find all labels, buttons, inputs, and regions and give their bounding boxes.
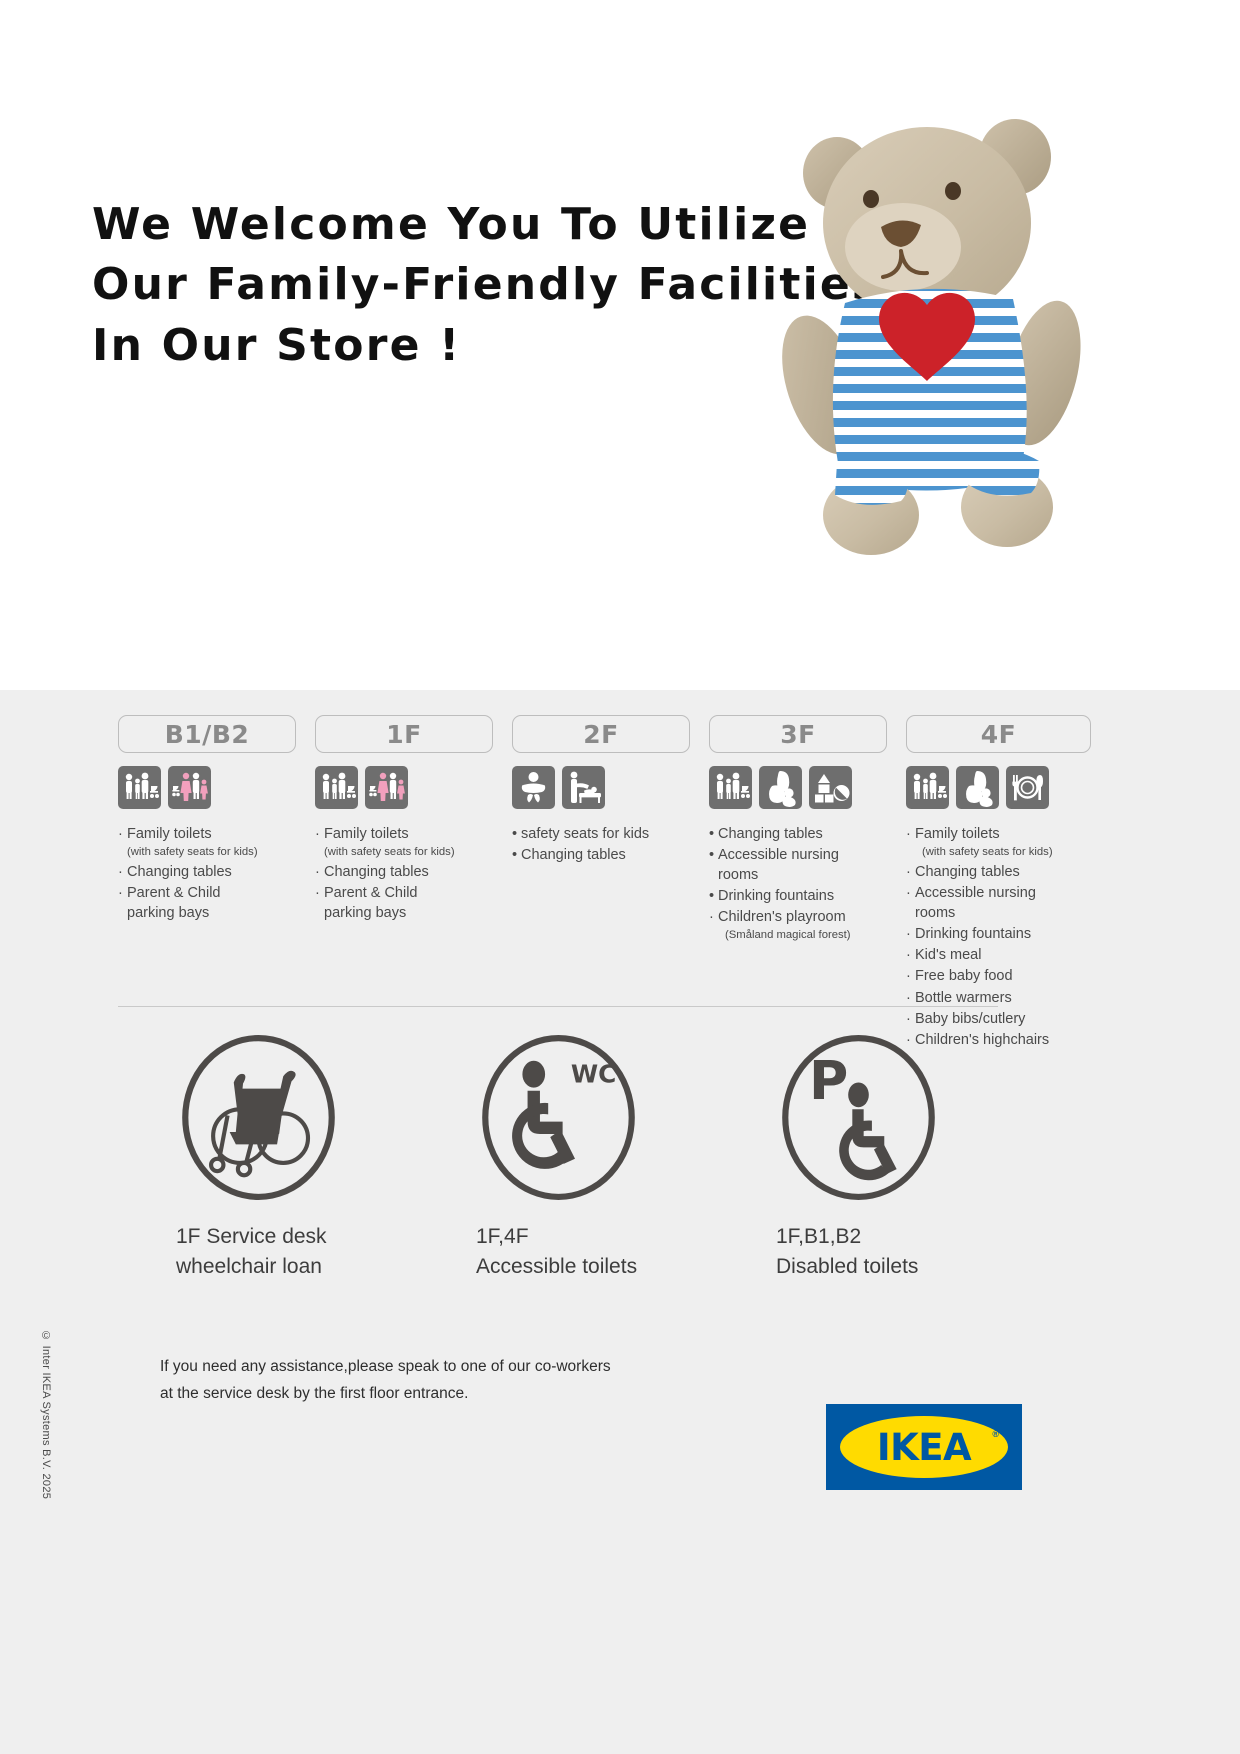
bullet: · [118,825,127,844]
bullet: · [118,863,127,882]
playroom-blocks-icon [809,766,852,809]
bullet: · [906,967,915,986]
list-item: •Changing tables [709,825,887,844]
ikea-logo-oval: IKEA ® [840,1416,1008,1478]
feature-text: Parent & Child parking bays [127,884,296,923]
list-item: •safety seats for kids [512,825,690,844]
feature-subtext: (with safety seats for kids) [127,845,296,860]
floor-column-2f: 2F [512,715,690,868]
feature-subtext: (with safety seats for kids) [922,845,1091,860]
accessibility-item-wheelchair-loan: 1F Service desk wheelchair loan [118,1035,418,1282]
list-item: ·Changing tables [118,863,296,882]
accessible-toilet-wc-icon: WC [476,1035,641,1200]
feature-text: Drinking fountains [915,925,1091,944]
feature-text: Changing tables [324,863,493,882]
bullet: • [709,887,718,906]
bullet: · [315,884,324,923]
list-item: ·Kid's meal [906,946,1091,965]
floor-badge-4f[interactable]: 4F [906,715,1091,753]
ikea-logo: IKEA ® [826,1404,1022,1490]
accessibility-label: 1F,4F Accessible toilets [476,1222,718,1282]
feature-text: Changing tables [127,863,296,882]
nursing-mother-icon [956,766,999,809]
bullet: · [709,908,718,927]
changing-table-icon [562,766,605,809]
bullet: · [315,863,324,882]
list-item: ·Baby bibs/cutlery [906,1010,1091,1029]
feature-text: Children's playroom [718,908,887,927]
wheelchair-loan-icon [176,1035,341,1200]
accessibility-item-accessible-toilets: WC 1F,4F Accessible toilets [418,1035,718,1282]
bullet: • [512,846,521,865]
copyright-text: © Inter IKEA Systems B.V. 2025 [40,1330,52,1499]
list-item: ·Changing tables [315,863,493,882]
bullet: · [315,825,324,844]
feature-list-b1b2: ·Family toilets (with safety seats for k… [118,825,296,923]
accessibility-label: 1F Service desk wheelchair loan [176,1222,418,1282]
teddy-bear-image [775,95,1135,595]
icon-row-1f [315,766,493,809]
feature-text: Parent & Child parking bays [324,884,493,923]
page-title: We Welcome You To Utilize Our Family-Fri… [92,195,880,376]
list-item: ·Family toilets [906,825,1091,844]
list-item: •Changing tables [512,846,690,865]
dining-plate-icon [1006,766,1049,809]
bullet: · [906,884,915,923]
list-item: ·Drinking fountains [906,925,1091,944]
feature-subtext: (with safety seats for kids) [324,845,493,860]
floor-column-b1b2: B1/B2 [118,715,296,925]
family-with-stroller-icon [709,766,752,809]
nursing-mother-icon [759,766,802,809]
bullet: · [906,946,915,965]
feature-text: Accessible nursing rooms [718,846,887,885]
poster-root: We Welcome You To Utilize Our Family-Fri… [0,0,1240,1754]
family-restroom-pink-icon [168,766,211,809]
feature-list-1f: ·Family toilets (with safety seats for k… [315,825,493,923]
bullet: · [906,863,915,882]
assistance-note: If you need any assistance,please speak … [160,1353,611,1407]
feature-text: Drinking fountains [718,887,887,906]
feature-list-4f: ·Family toilets (with safety seats for k… [906,825,1091,1050]
bullet: · [906,1010,915,1029]
accessibility-item-disabled-parking: P 1F,B1,B2 Disabled toilets [718,1035,1018,1282]
feature-text: Baby bibs/cutlery [915,1010,1091,1029]
icon-row-b1b2 [118,766,296,809]
bullet: · [906,825,915,844]
list-item: ·Family toilets [118,825,296,844]
family-with-stroller-icon [906,766,949,809]
bullet: • [709,846,718,885]
hero-section: We Welcome You To Utilize Our Family-Fri… [0,0,1240,690]
feature-text: Changing tables [718,825,887,844]
bullet: · [906,925,915,944]
feature-text: Family toilets [915,825,1091,844]
floor-badge-3f[interactable]: 3F [709,715,887,753]
floor-badge-2f[interactable]: 2F [512,715,690,753]
feature-list-2f: •safety seats for kids •Changing tables [512,825,690,866]
feature-text: Changing tables [915,863,1091,882]
floor-badge-1f[interactable]: 1F [315,715,493,753]
floor-column-3f: 3F [709,715,887,946]
list-item: ·Accessible nursing rooms [906,884,1091,923]
list-item: ·Changing tables [906,863,1091,882]
feature-text: Family toilets [324,825,493,844]
feature-text: Kid's meal [915,946,1091,965]
family-with-stroller-icon [315,766,358,809]
family-restroom-pink-icon [365,766,408,809]
baby-safety-seat-icon [512,766,555,809]
feature-text: Family toilets [127,825,296,844]
disabled-parking-icon: P [776,1035,941,1200]
section-divider [118,1006,998,1007]
bullet: • [512,825,521,844]
feature-text: safety seats for kids [521,825,690,844]
svg-text:WC: WC [571,1059,616,1088]
list-item: •Drinking fountains [709,887,887,906]
feature-list-3f: •Changing tables •Accessible nursing roo… [709,825,887,943]
list-item: ·Children's playroom [709,908,887,927]
feature-subtext: (Småland magical forest) [725,928,887,943]
floor-column-4f: 4F [906,715,1091,1052]
ikea-logo-text: IKEA [877,1426,971,1469]
icon-row-4f [906,766,1091,809]
registered-trademark-icon: ® [992,1429,999,1439]
icon-row-3f [709,766,887,809]
floor-badge-b1b2[interactable]: B1/B2 [118,715,296,753]
list-item: ·Parent & Child parking bays [315,884,493,923]
floor-columns: B1/B2 [118,715,1122,1052]
family-with-stroller-icon [118,766,161,809]
accessibility-label: 1F,B1,B2 Disabled toilets [776,1222,1018,1282]
accessibility-row: 1F Service desk wheelchair loan WC 1F,4F… [118,1035,1122,1282]
feature-text: Free baby food [915,967,1091,986]
list-item: ·Family toilets [315,825,493,844]
floor-column-1f: 1F [315,715,493,925]
list-item: ·Parent & Child parking bays [118,884,296,923]
feature-text: Changing tables [521,846,690,865]
bullet: · [118,884,127,923]
bullet: • [709,825,718,844]
svg-text:P: P [809,1049,848,1112]
icon-row-2f [512,766,690,809]
feature-text: Accessible nursing rooms [915,884,1091,923]
list-item: •Accessible nursing rooms [709,846,887,885]
facilities-panel: B1/B2 [0,690,1240,1754]
list-item: ·Free baby food [906,967,1091,986]
